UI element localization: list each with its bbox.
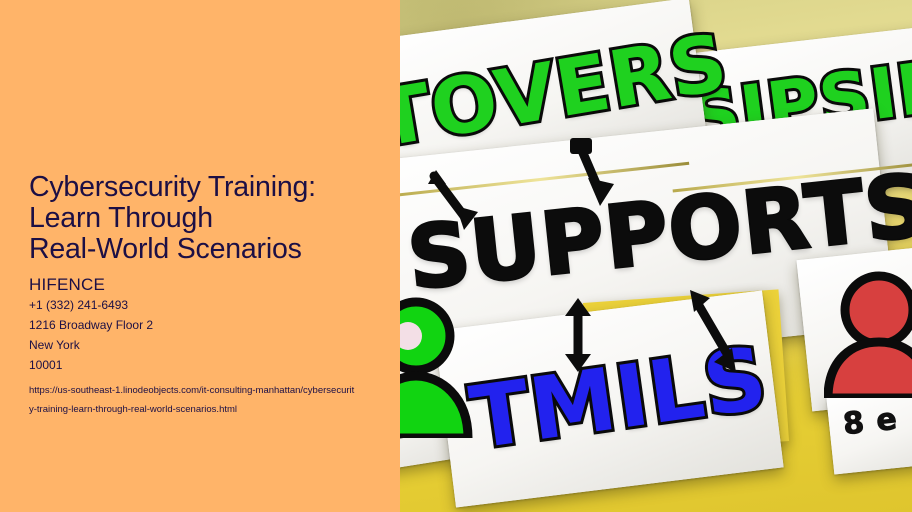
info-content: Cybersecurity Training: Learn Through Re… <box>29 172 379 419</box>
promo-card: Cybersecurity Training: Learn Through Re… <box>0 0 912 512</box>
street-address: 1216 Broadway Floor 2 <box>29 315 379 335</box>
info-panel: Cybersecurity Training: Learn Through Re… <box>0 0 400 512</box>
arrow-icon-down <box>566 136 622 216</box>
photo-panel: TOVERS SIPSID SUPPORTS EATB 8 e <box>400 0 912 512</box>
arrow-icon-double-vertical <box>558 298 598 372</box>
sign-word-number: 8 e <box>841 402 899 443</box>
page-title: Cybersecurity Training: Learn Through Re… <box>29 172 379 265</box>
brand-name: HIFENCE <box>29 274 379 295</box>
postal-code: 10001 <box>29 355 379 375</box>
arrow-icon-double-diagonal <box>682 288 744 374</box>
person-icon-green <box>400 288 482 438</box>
source-url-link[interactable]: https://us-southeast-1.linodeobjects.com… <box>29 381 359 419</box>
city-name: New York <box>29 335 379 355</box>
arrow-icon-down-right <box>426 168 486 240</box>
person-icon-red <box>824 268 912 398</box>
phone-number[interactable]: +1 (332) 241-6493 <box>29 295 379 315</box>
